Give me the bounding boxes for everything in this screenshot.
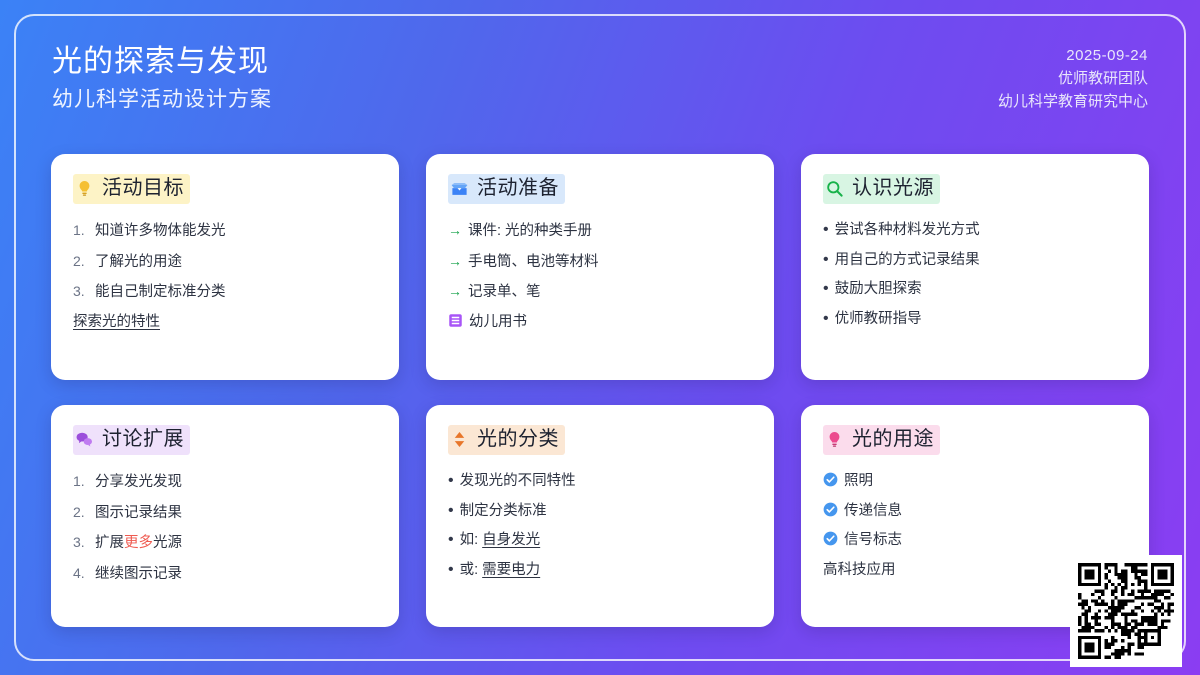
list-item: 1. 分享发光发现 (73, 469, 377, 495)
qr-code[interactable] (1078, 563, 1174, 659)
list-item: 4. 继续图示记录 (73, 561, 377, 587)
card-list: • 发现光的不同特性 • 制定分类标准 • 如: 自身发光 • 或: 需要电力 (448, 469, 752, 582)
header-date: 2025-09-24 (998, 44, 1148, 67)
magnifier-green-icon (825, 179, 844, 198)
slide-header: 光的探索与发现 幼儿科学活动设计方案 2025-09-24 优师教研团队 幼儿科… (52, 42, 1148, 134)
list-marker: • (823, 278, 829, 300)
card-list: 1. 分享发光发现 2. 图示记录结果 3. 扩展更多光源 4. 继续图示记录 (73, 469, 377, 586)
card-header: 活动准备 (448, 174, 565, 204)
list-text: 幼儿用书 (469, 310, 752, 335)
list-item: • 或: 需要电力 (448, 558, 752, 583)
card-title: 活动目标 (102, 175, 184, 201)
arrow-right-icon: → (448, 249, 462, 274)
card-header: 光的用途 (823, 425, 940, 455)
list-marker: 3. (73, 530, 89, 555)
card-header: 讨论扩展 (73, 425, 190, 455)
page-title: 光的探索与发现 (52, 42, 272, 82)
check-circle-blue-icon (823, 501, 838, 516)
list-marker: 2. (73, 500, 89, 525)
card-list: 1. 知道许多物体能发光 2. 了解光的用途 3. 能自己制定标准分类 探索光的… (73, 218, 377, 334)
list-marker: 2. (73, 249, 89, 274)
list-text: 手电筒、电池等材料 (468, 250, 752, 275)
list-text: 制定分类标准 (460, 499, 752, 524)
card-title: 活动准备 (477, 175, 559, 201)
list-marker: • (823, 308, 829, 330)
list-item: 传递信息 (823, 499, 1127, 524)
list-text-lead: 如: (460, 532, 483, 548)
open-box-blue-icon (450, 179, 469, 198)
list-item: → 手电筒、电池等材料 (448, 249, 752, 275)
list-item: 1. 知道许多物体能发光 (73, 218, 377, 244)
list-item: → 课件: 光的种类手册 (448, 218, 752, 244)
list-text-highlight: 更多 (124, 535, 153, 551)
header-org: 幼儿科学教育研究中心 (998, 90, 1148, 113)
list-item: 探索光的特性 (73, 310, 377, 335)
qr-code-container[interactable] (1070, 555, 1182, 667)
header-left: 光的探索与发现 幼儿科学活动设计方案 (52, 42, 272, 116)
card-title: 光的分类 (477, 426, 559, 452)
list-item: 信号标志 (823, 528, 1127, 553)
list-item: 3. 扩展更多光源 (73, 530, 377, 556)
list-marker: • (823, 219, 829, 241)
arrow-right-icon: → (448, 218, 462, 243)
list-text: 扩展更多光源 (95, 531, 377, 556)
list-text: 了解光的用途 (95, 250, 377, 275)
card-header: 光的分类 (448, 425, 565, 455)
list-item: • 发现光的不同特性 (448, 469, 752, 494)
list-text: 能自己制定标准分类 (95, 280, 377, 305)
list-item: • 如: 自身发光 (448, 528, 752, 553)
list-text: 探索光的特性 (73, 310, 377, 335)
card-know-light-sources[interactable]: 认识光源 • 尝试各种材料发光方式 • 用自己的方式记录结果 • 鼓励大胆探索 … (801, 154, 1149, 380)
list-item: • 制定分类标准 (448, 499, 752, 524)
list-text: 鼓励大胆探索 (835, 277, 1127, 302)
list-text: 照明 (844, 469, 1127, 494)
list-marker: 4. (73, 561, 89, 586)
page-subtitle: 幼儿科学活动设计方案 (52, 84, 272, 116)
lightbulb-pink-icon (825, 430, 844, 449)
updown-arrow-orange-icon (450, 430, 469, 449)
list-text-underlined: 自身发光 (482, 532, 540, 548)
list-text: 记录单、笔 (468, 280, 752, 305)
list-item: 2. 图示记录结果 (73, 500, 377, 526)
speech-bubbles-purple-icon (75, 430, 94, 449)
card-discussion-expansion[interactable]: 讨论扩展 1. 分享发光发现 2. 图示记录结果 3. 扩展更多光源 4. 继续… (51, 405, 399, 627)
list-text: 如: 自身发光 (460, 528, 752, 553)
list-marker: 3. (73, 279, 89, 304)
arrow-right-icon: → (448, 279, 462, 304)
list-text: 知道许多物体能发光 (95, 219, 377, 244)
check-circle-blue-icon (823, 471, 838, 486)
list-item: 2. 了解光的用途 (73, 249, 377, 275)
list-item: • 尝试各种材料发光方式 (823, 218, 1127, 243)
list-marker: • (448, 500, 454, 522)
list-text: 分享发光发现 (95, 470, 377, 495)
list-text-underlined: 需要电力 (482, 562, 540, 578)
card-title: 光的用途 (852, 426, 934, 452)
list-text: 信号标志 (844, 528, 1127, 553)
list-text-lead: 或: (460, 562, 483, 578)
list-item: • 优师教研指导 (823, 307, 1127, 332)
card-activity-goals[interactable]: 活动目标 1. 知道许多物体能发光 2. 了解光的用途 3. 能自己制定标准分类… (51, 154, 399, 380)
list-text: 继续图示记录 (95, 562, 377, 587)
list-text: 课件: 光的种类手册 (468, 219, 752, 244)
list-marker: • (823, 249, 829, 271)
list-item: → 记录单、笔 (448, 279, 752, 305)
header-team: 优师教研团队 (998, 67, 1148, 90)
slide-root: 光的探索与发现 幼儿科学活动设计方案 2025-09-24 优师教研团队 幼儿科… (0, 0, 1200, 675)
list-item: 3. 能自己制定标准分类 (73, 279, 377, 305)
card-list: → 课件: 光的种类手册 → 手电筒、电池等材料 → 记录单、笔 (448, 218, 752, 334)
lightbulb-yellow-icon (75, 179, 94, 198)
list-text: 尝试各种材料发光方式 (835, 218, 1127, 243)
list-item: • 鼓励大胆探索 (823, 277, 1127, 302)
list-item: 照明 (823, 469, 1127, 494)
list-text: 传递信息 (844, 499, 1127, 524)
card-light-classification[interactable]: 光的分类 • 发现光的不同特性 • 制定分类标准 • 如: 自身发光 • 或: … (426, 405, 774, 627)
list-marker: 1. (73, 469, 89, 494)
card-header: 活动目标 (73, 174, 190, 204)
list-text-lead: 扩展 (95, 535, 124, 551)
list-text: 图示记录结果 (95, 501, 377, 526)
card-list: • 尝试各种材料发光方式 • 用自己的方式记录结果 • 鼓励大胆探索 • 优师教… (823, 218, 1127, 331)
list-text: 发现光的不同特性 (460, 469, 752, 494)
list-text: 用自己的方式记录结果 (835, 248, 1127, 273)
list-text-tail: 光源 (153, 535, 182, 551)
book-purple-icon (448, 312, 463, 327)
list-marker: 1. (73, 218, 89, 243)
list-marker: • (448, 470, 454, 492)
list-text: 优师教研指导 (835, 307, 1127, 332)
list-item: 幼儿用书 (448, 310, 752, 335)
card-grid: 活动目标 1. 知道许多物体能发光 2. 了解光的用途 3. 能自己制定标准分类… (51, 154, 1149, 627)
check-circle-blue-icon (823, 530, 838, 545)
card-header: 认识光源 (823, 174, 940, 204)
list-text: 或: 需要电力 (460, 558, 752, 583)
list-item: • 用自己的方式记录结果 (823, 248, 1127, 273)
card-title: 讨论扩展 (102, 426, 184, 452)
card-activity-preparation[interactable]: 活动准备 → 课件: 光的种类手册 → 手电筒、电池等材料 → 记录单、笔 (426, 154, 774, 380)
list-marker: • (448, 559, 454, 581)
card-title: 认识光源 (852, 175, 934, 201)
list-marker: • (448, 529, 454, 551)
header-meta: 2025-09-24 优师教研团队 幼儿科学教育研究中心 (998, 44, 1148, 113)
